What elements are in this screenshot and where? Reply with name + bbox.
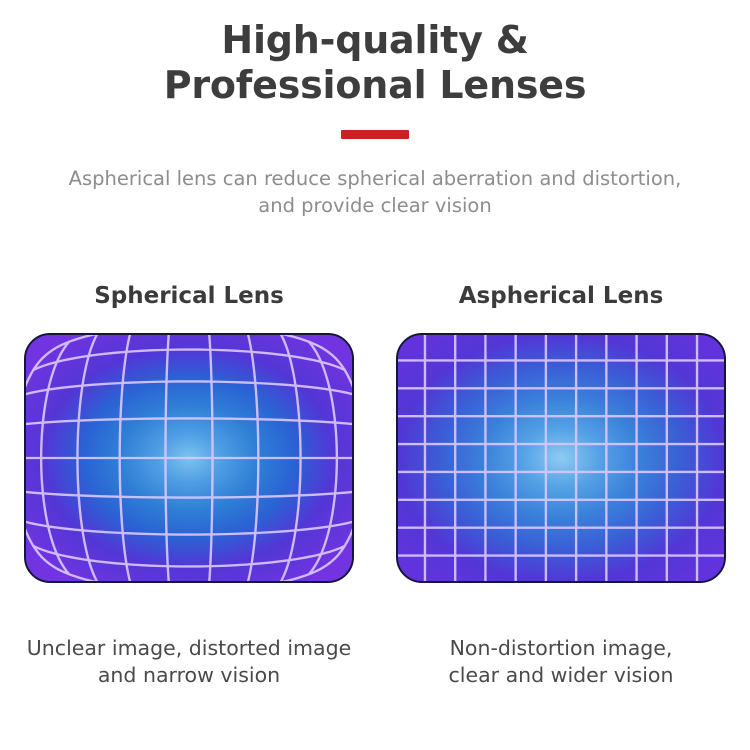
page-title-line-1: High-quality & [55,18,695,63]
subtitle-line-2: and provide clear vision [25,192,725,220]
subtitle: Aspherical lens can reduce spherical abe… [25,165,725,220]
subtitle-line-1: Aspherical lens can reduce spherical abe… [25,165,725,193]
lens-comparison: Spherical Lens [0,283,750,690]
infographic-page: High-quality & Professional Lenses Asphe… [0,0,750,750]
aspherical-lens-caption: Non-distortion image, clear and wider vi… [391,635,731,690]
aspherical-lens-column: Aspherical Lens [396,283,726,690]
spherical-lens-heading: Spherical Lens [94,283,284,311]
spherical-caption-line-1: Unclear image, distorted image [19,635,359,663]
spherical-caption-line-2: and narrow vision [19,662,359,690]
aspherical-caption-line-1: Non-distortion image, [391,635,731,663]
aspherical-lens-heading: Aspherical Lens [459,283,664,311]
aspherical-caption-line-2: clear and wider vision [391,662,731,690]
aspherical-lens-image [396,333,726,583]
page-title: High-quality & Professional Lenses [55,18,695,108]
aspherical-grid-svg [398,335,724,581]
spherical-lens-image [24,333,354,583]
accent-bar-container [0,124,750,143]
spherical-lens-column: Spherical Lens [24,283,354,690]
spherical-lens-caption: Unclear image, distorted image and narro… [19,635,359,690]
spherical-grid-svg [26,335,352,581]
accent-bar [341,130,409,139]
header: High-quality & Professional Lenses Asphe… [0,0,750,220]
aspherical-lens-background [398,335,724,581]
page-title-line-2: Professional Lenses [55,63,695,108]
